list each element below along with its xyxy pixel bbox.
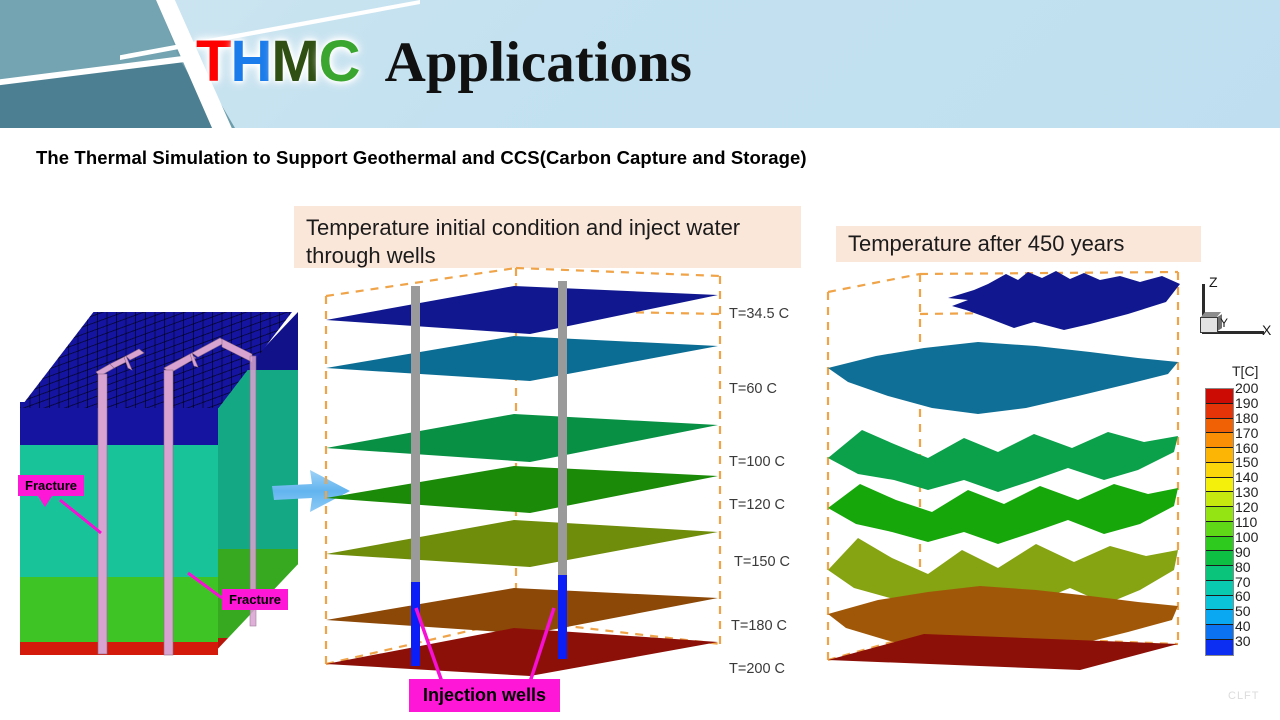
- legend-tick-140: 140: [1235, 470, 1275, 485]
- legend-swatch-40: [1206, 625, 1233, 640]
- axis-label-x: X: [1262, 322, 1271, 338]
- temp-label-34-5: T=34.5 C: [729, 306, 789, 322]
- legend-tick-110: 110: [1235, 515, 1275, 530]
- legend-tick-160: 160: [1235, 441, 1275, 456]
- legend-swatch-50: [1206, 610, 1233, 625]
- axis-label-y: Y: [1220, 316, 1228, 330]
- legend-swatch-180: [1206, 419, 1233, 434]
- temp-label-200: T=200 C: [729, 661, 785, 677]
- legend-tick-100: 100: [1235, 530, 1275, 545]
- surface-200: [828, 634, 1178, 670]
- legend-swatch-110: [1206, 522, 1233, 537]
- title-letter-c: C: [319, 29, 360, 94]
- temperature-colorbar: [1205, 388, 1234, 656]
- title-letter-t: T: [196, 29, 230, 94]
- axis-label-z: Z: [1209, 274, 1218, 290]
- title-word-applications: Applications: [385, 31, 692, 94]
- temp-label-60: T=60 C: [729, 381, 777, 397]
- legend-swatch-100: [1206, 537, 1233, 552]
- corner-watermark: CLFT: [1228, 690, 1260, 702]
- legend-tick-200: 200: [1235, 381, 1275, 396]
- title-letter-m: M: [271, 29, 318, 94]
- legend-swatch-70: [1206, 581, 1233, 596]
- middle-3d-layer-panel: [318, 268, 728, 686]
- legend-swatch-90: [1206, 551, 1233, 566]
- fracture-label-bottom: Fracture: [222, 589, 288, 610]
- legend-tick-130: 130: [1235, 485, 1275, 500]
- legend-tick-180: 180: [1235, 411, 1275, 426]
- surface-120: [828, 484, 1178, 544]
- injection-wells-leader-lines: [318, 268, 728, 698]
- legend-swatch-140: [1206, 478, 1233, 493]
- surface-100: [828, 430, 1178, 492]
- temp-label-150: T=150 C: [734, 554, 790, 570]
- legend-tick-70: 70: [1235, 575, 1275, 590]
- title-acronym: THMC: [196, 29, 375, 94]
- legend-swatch-190: [1206, 404, 1233, 419]
- legend-tick-30: 30: [1235, 634, 1275, 649]
- axis-cube-front: [1200, 317, 1218, 333]
- legend-swatch-30: [1206, 640, 1233, 655]
- legend-title: T[C]: [1232, 363, 1258, 379]
- caption-middle-panel: Temperature initial condition and inject…: [294, 206, 801, 268]
- legend-swatch-130: [1206, 492, 1233, 507]
- legend-swatch-150: [1206, 463, 1233, 478]
- slide-subtitle: The Thermal Simulation to Support Geothe…: [36, 147, 807, 169]
- legend-swatch-120: [1206, 507, 1233, 522]
- right-3d-surface-panel: [828, 262, 1206, 686]
- legend-tick-150: 150: [1235, 455, 1275, 470]
- axis-orientation-indicator: Z Y X: [1192, 276, 1278, 362]
- legend-tick-80: 80: [1235, 560, 1275, 575]
- temp-label-100: T=100 C: [729, 454, 785, 470]
- legend-tick-labels: 2001901801701601501401301201101009080706…: [1235, 381, 1275, 649]
- legend-tick-50: 50: [1235, 604, 1275, 619]
- legend-swatch-160: [1206, 448, 1233, 463]
- injection-wells-label: Injection wells: [409, 679, 560, 712]
- legend-tick-40: 40: [1235, 619, 1275, 634]
- legend-swatch-60: [1206, 596, 1233, 611]
- legend-swatch-170: [1206, 433, 1233, 448]
- legend-swatch-200: [1206, 389, 1233, 404]
- surface-60: [828, 342, 1178, 414]
- surface-34-5: [948, 271, 1180, 330]
- legend-tick-190: 190: [1235, 396, 1275, 411]
- legend-tick-90: 90: [1235, 545, 1275, 560]
- temp-label-120: T=120 C: [729, 497, 785, 513]
- legend-swatch-80: [1206, 566, 1233, 581]
- right-temperature-surfaces: [828, 262, 1206, 686]
- fracture-label-top: Fracture: [18, 475, 84, 496]
- caption-right-panel: Temperature after 450 years: [836, 226, 1201, 262]
- legend-tick-170: 170: [1235, 426, 1275, 441]
- legend-tick-60: 60: [1235, 589, 1275, 604]
- header-banner: THMC Applications: [0, 0, 1280, 128]
- temp-label-180: T=180 C: [731, 618, 787, 634]
- title-letter-h: H: [230, 29, 271, 94]
- legend-tick-120: 120: [1235, 500, 1275, 515]
- page-title: THMC Applications: [196, 26, 692, 98]
